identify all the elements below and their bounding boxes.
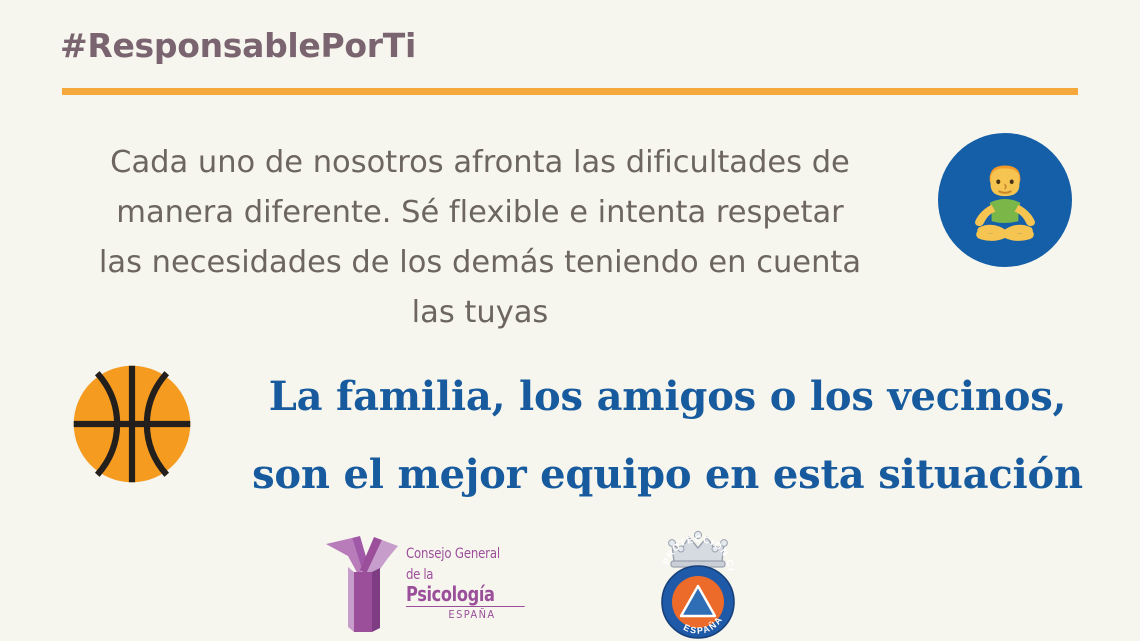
consejo-wordmark: Consejo General de la Psicología ESPAÑA: [406, 547, 538, 621]
logo-row: Consejo General de la Psicología ESPAÑA: [0, 528, 1140, 641]
consejo-psicologia: Psicología: [406, 582, 495, 606]
poster-canvas: #ResponsablePorTi Cada uno de nosotros a…: [0, 0, 1140, 641]
intro-line-1: Cada uno de nosotros afronta las dificul…: [60, 138, 900, 188]
purple-y-icon: [322, 534, 402, 634]
proteccion-civil-emblem-icon: PROTECCION CIVIL ESPAÑA: [650, 528, 746, 641]
headline-line-2: son el mejor equipo en esta situación: [215, 436, 1120, 514]
basketball-icon: [70, 362, 194, 486]
intro-line-2: manera diferente. Sé flexible e intenta …: [60, 188, 900, 238]
meditation-badge: [938, 133, 1072, 267]
consejo-line-1: Consejo General: [406, 547, 525, 562]
campaign-hashtag: #ResponsablePorTi: [60, 26, 416, 65]
consejo-line-3: ESPAÑA: [406, 607, 538, 621]
person-in-lotus-position-icon: [957, 152, 1053, 248]
basketball-graphic: [70, 362, 194, 486]
intro-line-3: las necesidades de los demás teniendo en…: [60, 238, 900, 288]
intro-paragraph: Cada uno de nosotros afronta las dificul…: [60, 138, 900, 338]
proteccion-civil-espana-logo: PROTECCION CIVIL ESPAÑA: [650, 528, 746, 641]
consejo-general-psicologia-logo: Consejo General de la Psicología ESPAÑA: [322, 534, 537, 634]
headline: La familia, los amigos o los vecinos, so…: [215, 358, 1120, 514]
intro-line-4: las tuyas: [60, 288, 900, 338]
orange-divider: [62, 88, 1078, 95]
headline-line-1: La familia, los amigos o los vecinos,: [215, 358, 1120, 436]
consejo-line-2: de la Psicología: [406, 562, 525, 607]
